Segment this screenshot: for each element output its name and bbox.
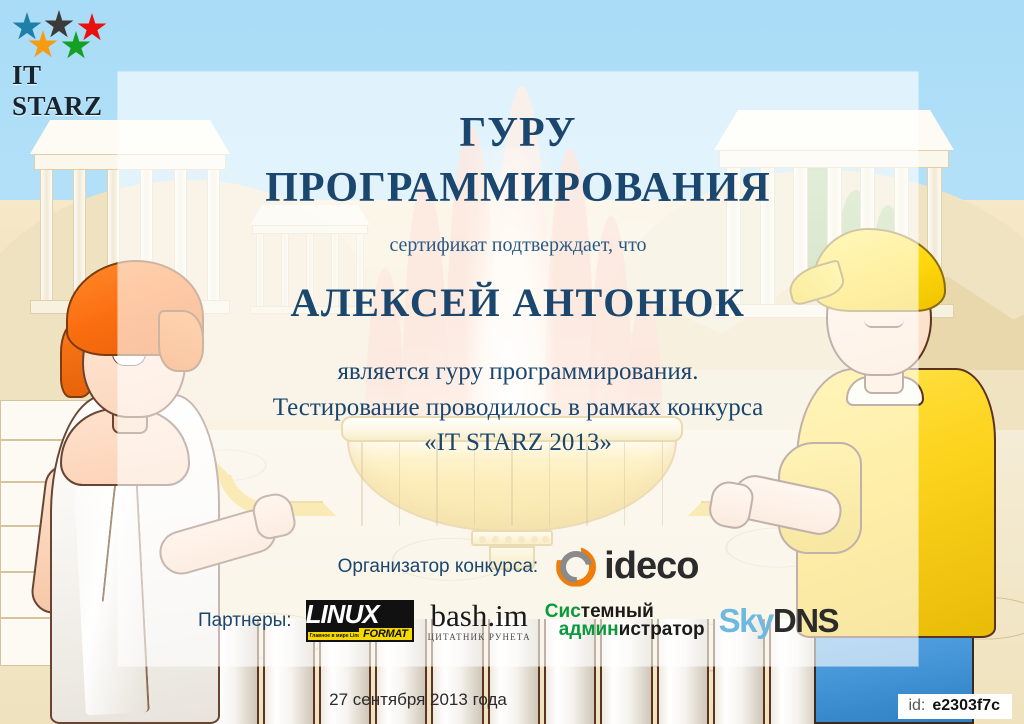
stars-group (8, 10, 112, 58)
certificate-subtitle: сертификат подтверждает, что (118, 234, 918, 257)
partner-logo-linux-format: LINUX Главное в мире Linux FORMAT (306, 600, 414, 642)
it-starz-logo: IT STARZ (8, 10, 118, 96)
linux-format-tagline: Главное в мире Linux (308, 632, 366, 640)
partners-row: Партнеры: LINUX Главное в мире Linux FOR… (118, 600, 918, 642)
linux-format-sub: FORMAT (359, 628, 411, 640)
organizer-row: Организатор конкурса: ideco (118, 545, 918, 588)
certificate-date: 27 сентября 2013 года (118, 690, 718, 710)
partner-logo-sistemny-administrator: Системный администратор (545, 603, 705, 639)
certificate-id-label: id: (908, 697, 925, 715)
certificate: IT STARZ ГУРУ ПРОГРАММИРОВАНИЯ сертифика… (0, 0, 1024, 724)
partner-logo-bash-im: bash.im ЦИТАТНИК РУНЕТА (428, 600, 531, 642)
skydns-part2: DNS (773, 602, 838, 639)
linux-format-main: LINUX (306, 599, 379, 629)
certificate-body-line3: «IT STARZ 2013» (118, 425, 918, 461)
partners-label: Партнеры: (198, 610, 292, 632)
ideco-swirl-icon (556, 547, 596, 587)
skydns-part1: Sky (719, 602, 773, 639)
recipient-name: АЛЕКСЕЙ АНТОНЮК (118, 279, 918, 326)
certificate-body-line1: является гуру программирования. (118, 354, 918, 390)
certificate-body-line2: Тестирование проводилось в рамках конкур… (118, 390, 918, 426)
ideco-logo: ideco (556, 545, 698, 588)
star-blue-icon (12, 12, 42, 42)
certificate-id-value: e2303f7c (932, 697, 1000, 715)
star-red-icon (77, 13, 107, 43)
star-black-icon (44, 10, 74, 40)
certificate-title-line1: ГУРУ (118, 110, 918, 157)
certificate-content: ГУРУ ПРОГРАММИРОВАНИЯ сертификат подтвер… (118, 72, 918, 461)
sysadmin-l2-green: админ (559, 619, 619, 640)
bash-im-main: bash.im (428, 600, 531, 631)
certificate-title-line2: ПРОГРАММИРОВАНИЯ (118, 165, 918, 212)
ideco-wordmark: ideco (604, 545, 698, 588)
bash-im-sub: ЦИТАТНИК РУНЕТА (428, 632, 531, 642)
logo-text: IT STARZ (12, 60, 118, 122)
certificate-id-box: id: e2303f7c (898, 694, 1012, 719)
organizer-label: Организатор конкурса: (338, 556, 539, 578)
sysadmin-l2-black: истратор (619, 619, 705, 640)
partner-logo-skydns: SkyDNS (719, 602, 838, 640)
